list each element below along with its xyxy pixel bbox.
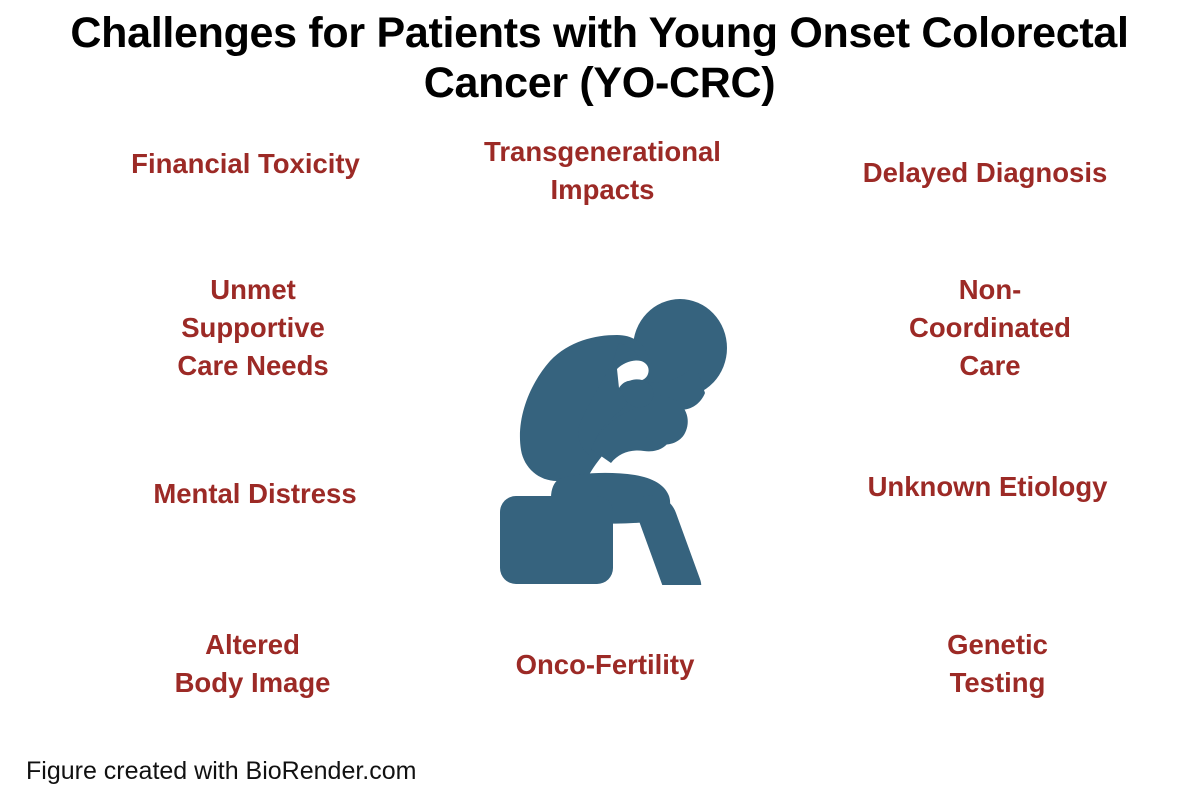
figure-canvas: Challenges for Patients with Young Onset… bbox=[0, 0, 1199, 798]
challenge-label-non-coordinated-care: Non- Coordinated Care bbox=[855, 271, 1125, 385]
challenge-label-transgenerational-impacts: Transgenerational Impacts bbox=[430, 133, 775, 209]
challenge-label-unknown-etiology: Unknown Etiology bbox=[815, 468, 1160, 506]
figure-title-line-1: Challenges for Patients with Young Onset… bbox=[0, 8, 1199, 58]
biorender-credit: Figure created with BioRender.com bbox=[26, 755, 416, 787]
challenge-label-mental-distress: Mental Distress bbox=[95, 475, 415, 513]
challenge-label-onco-fertility: Onco-Fertility bbox=[455, 646, 755, 684]
challenge-label-unmet-supportive-care-needs: Unmet Supportive Care Needs bbox=[118, 271, 388, 385]
figure-title: Challenges for Patients with Young Onset… bbox=[0, 8, 1199, 108]
challenge-label-altered-body-image: Altered Body Image bbox=[120, 626, 385, 702]
challenge-label-delayed-diagnosis: Delayed Diagnosis bbox=[795, 154, 1175, 192]
challenge-label-genetic-testing: Genetic Testing bbox=[870, 626, 1125, 702]
figure-title-line-2: Cancer (YO-CRC) bbox=[0, 58, 1199, 108]
distressed-seated-person-icon bbox=[467, 297, 757, 585]
challenge-label-financial-toxicity: Financial Toxicity bbox=[58, 145, 433, 183]
